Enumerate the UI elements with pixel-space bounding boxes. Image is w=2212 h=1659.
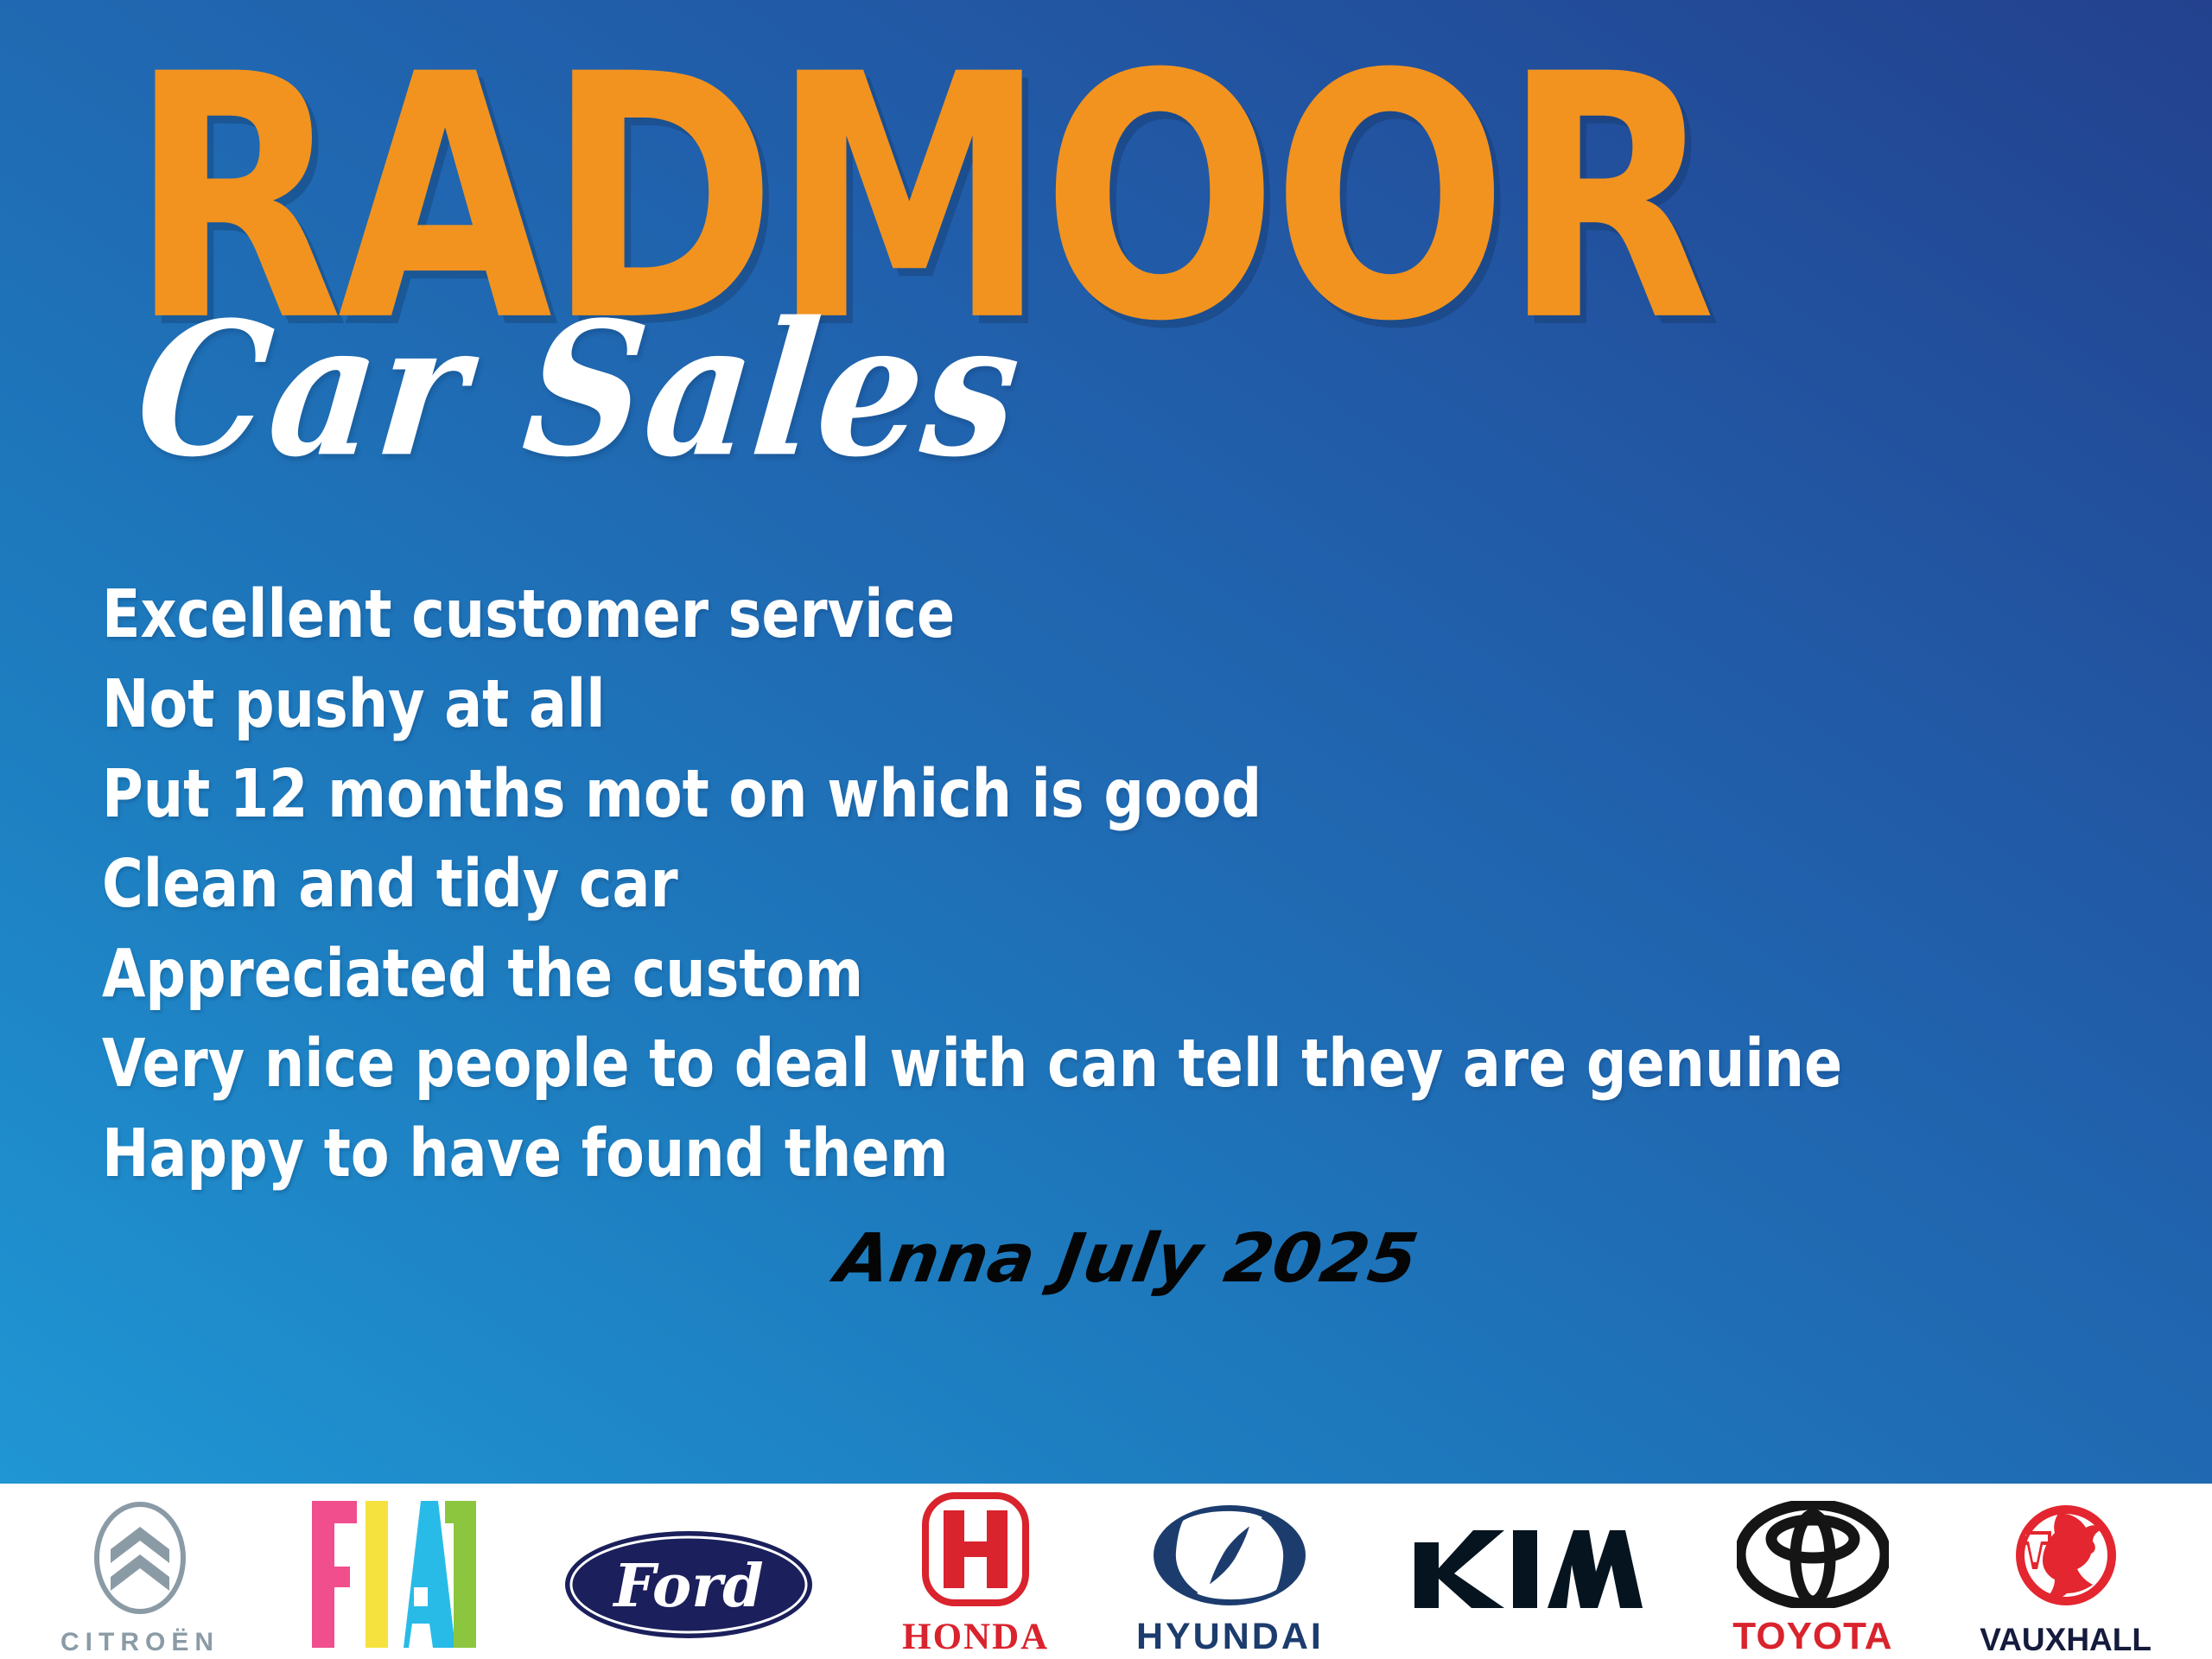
svg-text:Ford: Ford xyxy=(613,1552,764,1621)
logo-honda: HONDA xyxy=(902,1486,1049,1656)
citroen-logo-icon xyxy=(92,1501,188,1619)
poster-canvas: RADMOOR Car Sales Excellent customer ser… xyxy=(0,0,2212,1659)
honda-logo-icon xyxy=(921,1491,1030,1611)
brand-lockup: RADMOOR Car Sales xyxy=(0,0,2212,518)
hyundai-logo-icon xyxy=(1150,1502,1309,1613)
testimonial-signature: Anna July 2025 xyxy=(832,1225,1422,1293)
honda-wordmark: HONDA xyxy=(902,1618,1049,1656)
logo-hyundai: HYUNDAI xyxy=(1136,1486,1324,1656)
testimonial-line: Excellent customer service xyxy=(102,570,1994,660)
testimonial-line: Very nice people to deal with can tell t… xyxy=(102,1020,1994,1109)
customer-testimonial: Excellent customer service Not pushy at … xyxy=(102,570,2115,1199)
testimonial-line: Happy to have found them xyxy=(102,1109,1994,1199)
hyundai-wordmark: HYUNDAI xyxy=(1136,1618,1324,1656)
brand-tagline-car-sales: Car Sales xyxy=(130,298,1029,482)
kia-logo-icon xyxy=(1411,1527,1646,1616)
logo-citroen: CITROËN xyxy=(60,1486,219,1656)
toyota-logo-icon xyxy=(1737,1501,1889,1612)
logo-toyota: TOYOTA xyxy=(1732,1486,1892,1656)
testimonial-line: Clean and tidy car xyxy=(102,840,1994,930)
fiat-logo-icon xyxy=(307,1497,476,1656)
logo-kia xyxy=(1411,1446,1646,1656)
logo-fiat xyxy=(307,1486,476,1656)
logo-vauxhall: VAUXHALL xyxy=(1980,1486,2152,1656)
testimonial-line: Not pushy at all xyxy=(102,660,1994,750)
vauxhall-logo-icon xyxy=(2006,1502,2126,1618)
testimonial-line: Put 12 months mot on which is good xyxy=(102,750,1994,840)
brand-logo-strip: CITROËN xyxy=(0,1484,2212,1659)
vauxhall-wordmark: VAUXHALL xyxy=(1980,1624,2152,1656)
logo-ford: Ford xyxy=(563,1476,815,1656)
testimonial-line: Appreciated the custom xyxy=(102,930,1994,1020)
citroen-wordmark: CITROËN xyxy=(60,1630,219,1656)
ford-logo-icon: Ford xyxy=(563,1529,815,1645)
toyota-wordmark: TOYOTA xyxy=(1732,1618,1892,1656)
